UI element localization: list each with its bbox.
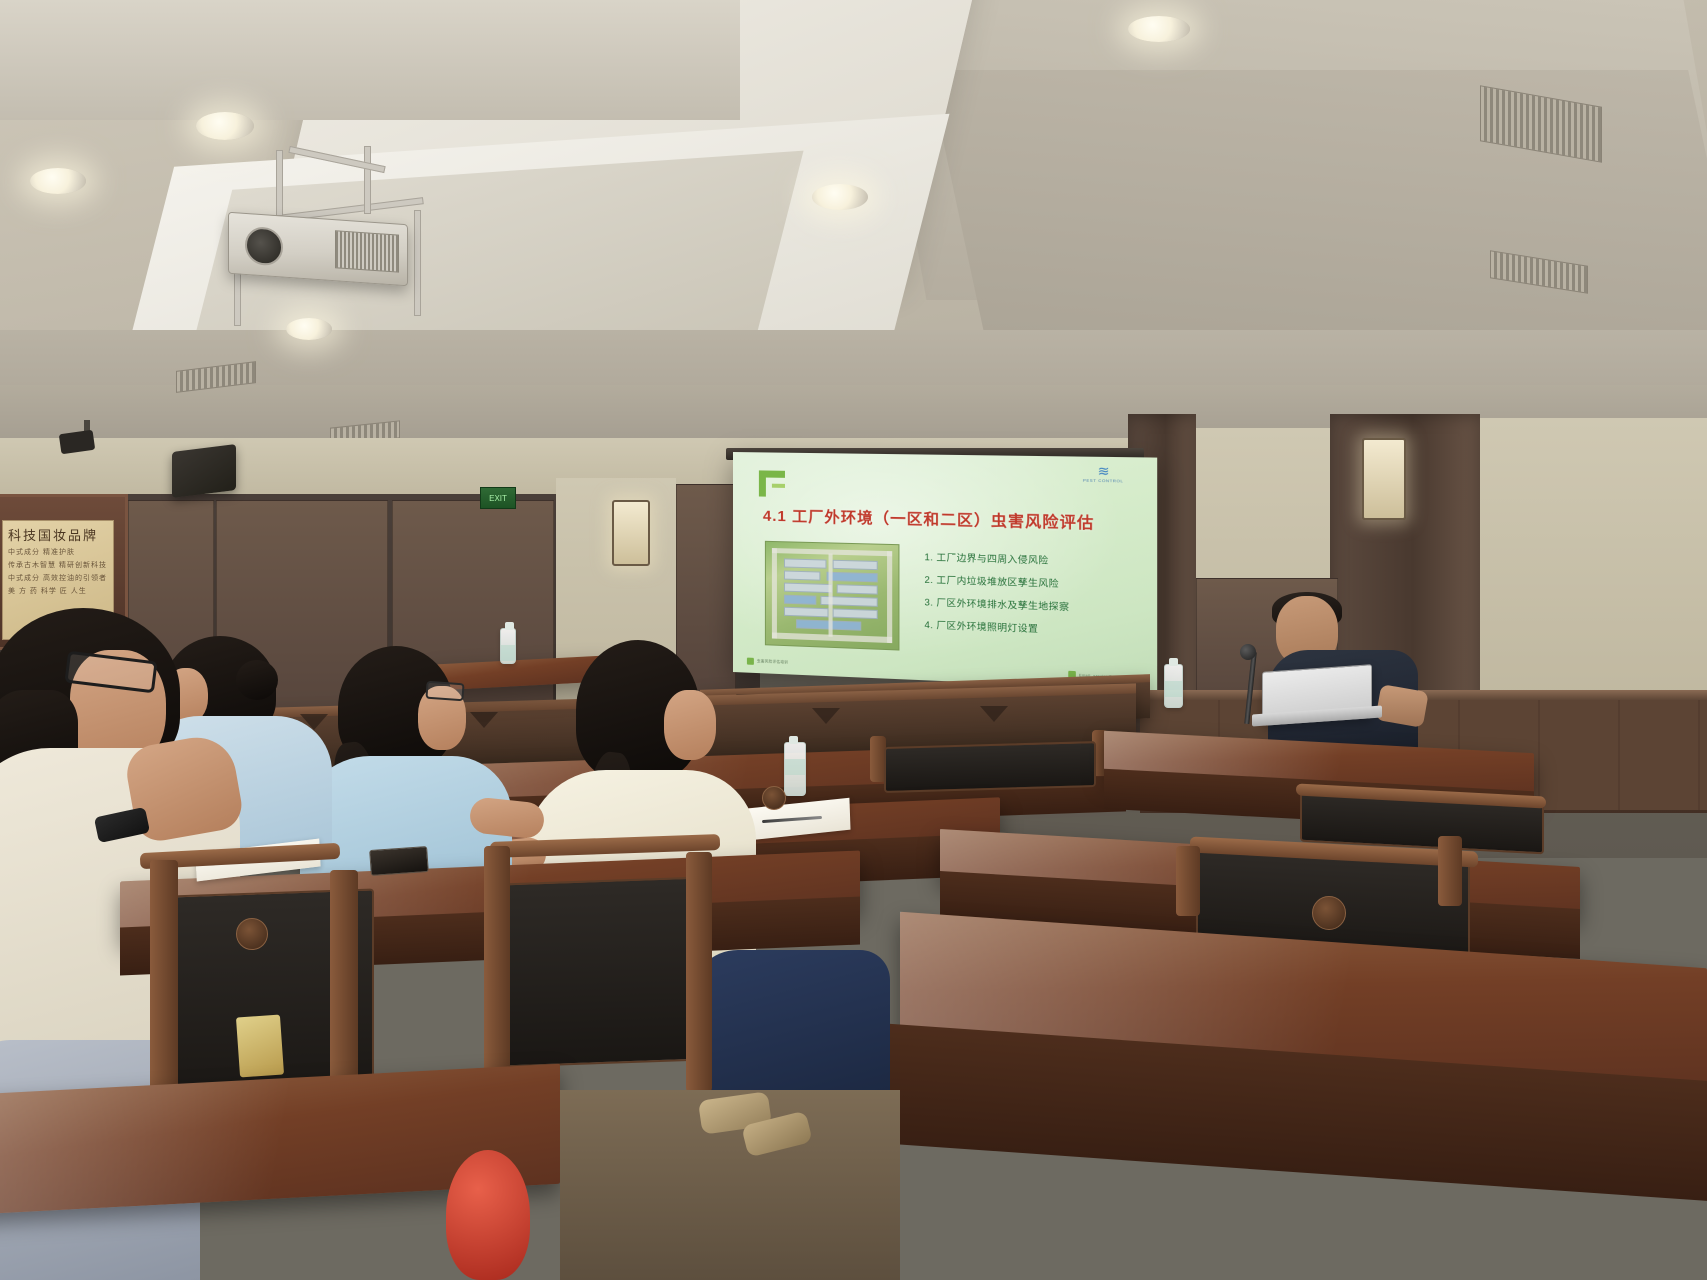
water-bottle[interactable] (1164, 664, 1183, 708)
wall-speaker-icon (172, 444, 236, 498)
chair-medallion-icon (1312, 896, 1346, 930)
bench-ornament-icon (980, 706, 1008, 722)
mobile-phone[interactable] (369, 846, 429, 876)
slide-logo: ≋ PEST CONTROL (1078, 465, 1128, 489)
water-bottle[interactable] (500, 628, 516, 664)
chair-post (686, 852, 712, 1092)
microphone-icon (1240, 644, 1256, 660)
wall-sconce-icon (612, 500, 650, 566)
slide-bullet-list: 1. 工厂边界与四周入侵风险 2. 工厂内垃圾堆放区孳生风险 3. 厂区外环境排… (924, 549, 1139, 647)
bench-ornament-icon (470, 712, 498, 728)
bottle-label (785, 759, 805, 775)
slide-corner-mark-icon (759, 470, 785, 497)
downlight-icon (196, 112, 254, 140)
downlight-icon (30, 168, 86, 194)
seat-tag (236, 1015, 284, 1078)
chair-post (1176, 846, 1200, 916)
projector-vent-grille (335, 230, 399, 272)
wall-sconce-icon (1362, 438, 1406, 520)
ceiling (0, 0, 1707, 470)
person-face (664, 690, 716, 760)
downlight-icon (812, 184, 868, 210)
person-skirt (690, 950, 890, 1110)
exit-sign-label: EXIT (489, 494, 507, 503)
chair-medallion-icon (762, 786, 786, 810)
bench-ornament-icon (812, 708, 840, 724)
wall-plaque-title: 科技国妆品牌 (8, 525, 108, 544)
downlight-icon (1128, 16, 1190, 42)
eyeglasses-icon (425, 681, 464, 702)
wall-plaque-line: 中式成分 高效控油的引领者 (8, 573, 108, 583)
slide-logo-text: PEST CONTROL (1083, 478, 1124, 484)
projection-screen: ≋ PEST CONTROL 4.1 工厂外环境（一区和二区）虫害风险评估 1.… (733, 452, 1157, 690)
person-hair-bun (236, 660, 278, 700)
slide-footer-left-text: 虫害风险评估培训 (757, 659, 788, 665)
slide-factory-map-image (765, 541, 900, 651)
ceiling-soffit-left (0, 0, 740, 120)
ceiling-projector (228, 212, 408, 287)
wall-plaque-line: 中式成分 精准护肤 (8, 547, 108, 557)
water-bottle[interactable] (784, 742, 806, 796)
slide-footer-mark-icon (747, 658, 754, 665)
foreground-object (446, 1150, 530, 1280)
slide-bullet-item: 3. 厂区外环境排水及孳生地探察 (924, 594, 1139, 616)
chair-post (1438, 836, 1462, 906)
chair-back[interactable] (500, 876, 704, 1067)
chair-medallion-icon (236, 918, 268, 950)
exit-sign: EXIT (480, 487, 516, 509)
downlight-icon (286, 318, 332, 340)
chair-back[interactable] (884, 741, 1096, 793)
slide-bullet-item: 4. 厂区外环境照明灯设置 (924, 617, 1139, 639)
presentation-room-photo: 科技国妆品牌 中式成分 精准护肤 传承古木智慧 精研创新科技 中式成分 高效控油… (0, 0, 1707, 1280)
slide-bullet-item: 2. 工厂内垃圾堆放区孳生风险 (924, 571, 1139, 592)
projector-lens-icon (245, 226, 283, 267)
wall-plaque-line: 传承古木智慧 精研创新科技 (8, 560, 108, 570)
bottle-label (501, 645, 515, 661)
chair-post (150, 860, 178, 1110)
chair-post (484, 846, 510, 1076)
slide-logo-mark-icon: ≋ (1098, 465, 1109, 478)
bottle-label (1165, 681, 1182, 697)
wall-plaque-line: 美 方 药 科学 匠 人生 (8, 586, 108, 596)
